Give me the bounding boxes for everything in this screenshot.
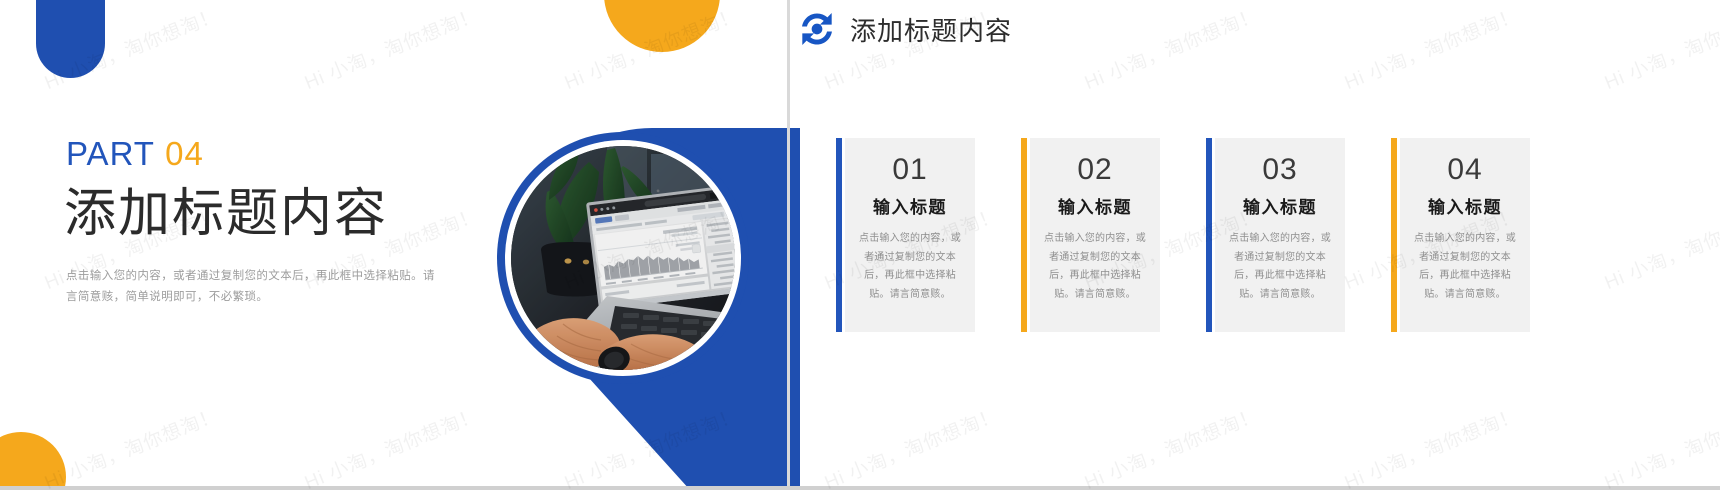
right-pane: 添加标题内容 01 输入标题 点击输入您的内容，或者通过复制您的文本后，再此框中… <box>790 0 1720 490</box>
card-03[interactable]: 03 输入标题 点击输入您的内容，或者通过复制您的文本后，再此框中选择粘贴。请言… <box>1215 138 1345 332</box>
card-body: 点击输入您的内容，或者通过复制您的文本后，再此框中选择粘贴。请言简意赅。 <box>1411 230 1519 304</box>
panel-title: 添加标题内容 <box>850 11 1012 48</box>
card-title: 输入标题 <box>1243 199 1317 216</box>
photo-outer-ring <box>497 132 749 384</box>
card-accent-bar <box>1206 138 1212 332</box>
part-word: PART <box>66 135 155 172</box>
card-02[interactable]: 02 输入标题 点击输入您的内容，或者通过复制您的文本后，再此框中选择粘贴。请言… <box>1030 138 1160 332</box>
page-title: 添加标题内容 <box>64 185 388 245</box>
part-number: 04 <box>165 135 204 172</box>
blue-pill-shape <box>36 0 105 78</box>
card-title: 输入标题 <box>1058 199 1132 216</box>
card-title: 输入标题 <box>873 199 947 216</box>
slide-canvas: PART 04 添加标题内容 点击输入您的内容，或者通过复制您的文本后，再此框中… <box>0 0 1720 490</box>
sync-refresh-icon <box>798 10 836 48</box>
panel-header: 添加标题内容 <box>798 10 1012 48</box>
left-pane: PART 04 添加标题内容 点击输入您的内容，或者通过复制您的文本后，再此框中… <box>0 0 788 490</box>
card-number: 01 <box>892 155 927 185</box>
card-accent-bar <box>1021 138 1027 332</box>
bottom-edge <box>0 486 1720 490</box>
laptop-photo <box>511 146 735 370</box>
card-number: 02 <box>1077 155 1112 185</box>
card-01[interactable]: 01 输入标题 点击输入您的内容，或者通过复制您的文本后，再此框中选择粘贴。请言… <box>845 138 975 332</box>
card-title: 输入标题 <box>1428 199 1502 216</box>
card-accent-bar <box>836 138 842 332</box>
card-number: 03 <box>1262 155 1297 185</box>
cards-row: 01 输入标题 点击输入您的内容，或者通过复制您的文本后，再此框中选择粘贴。请言… <box>845 138 1530 332</box>
photo-inner-ring <box>505 140 741 376</box>
card-body: 点击输入您的内容，或者通过复制您的文本后，再此框中选择粘贴。请言简意赅。 <box>1226 230 1334 304</box>
part-label: PART 04 <box>66 137 204 170</box>
card-number: 04 <box>1447 155 1482 185</box>
card-04[interactable]: 04 输入标题 点击输入您的内容，或者通过复制您的文本后，再此框中选择粘贴。请言… <box>1400 138 1530 332</box>
orange-circle-top-shape <box>604 0 720 52</box>
orange-circle-bottom-shape <box>0 432 66 490</box>
page-description: 点击输入您的内容，或者通过复制您的文本后，再此框中选择粘贴。请言简意赅，简单说明… <box>66 266 446 309</box>
card-body: 点击输入您的内容，或者通过复制您的文本后，再此框中选择粘贴。请言简意赅。 <box>856 230 964 304</box>
card-accent-bar <box>1391 138 1397 332</box>
card-body: 点击输入您的内容，或者通过复制您的文本后，再此框中选择粘贴。请言简意赅。 <box>1041 230 1149 304</box>
